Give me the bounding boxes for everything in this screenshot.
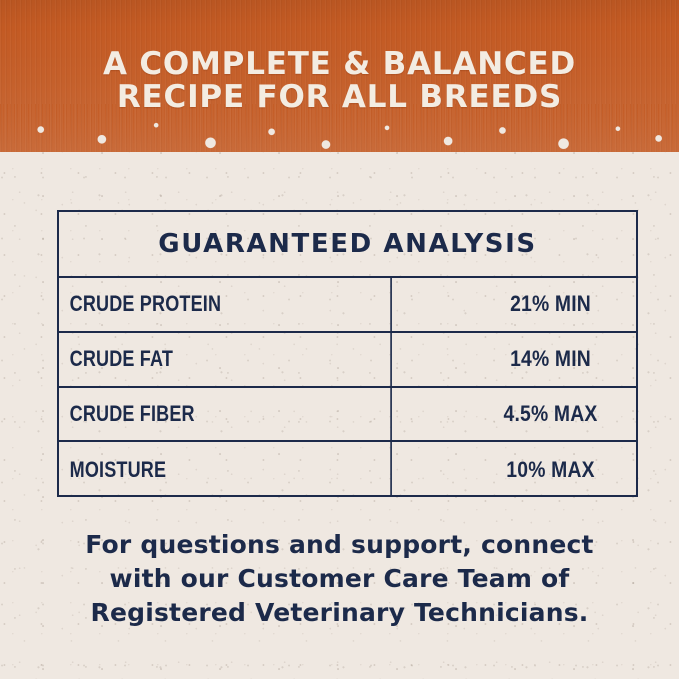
product-info-panel: A COMPLETE & BALANCED RECIPE FOR ALL BRE… <box>0 0 679 679</box>
nutrient-value: 10% MAX <box>475 442 625 497</box>
banner-headline-line-2: RECIPE FOR ALL BREEDS <box>0 81 679 114</box>
nutrient-label: CRUDE PROTEIN <box>59 278 392 331</box>
table-title: GUARANTEED ANALYSIS <box>158 229 536 259</box>
table-row: CRUDE FIBER 4.5% MAX <box>59 388 636 443</box>
customer-care-note-line-2: with our Customer Care Team of <box>0 562 679 596</box>
nutrient-label: CRUDE FIBER <box>59 388 392 441</box>
guaranteed-analysis-table: GUARANTEED ANALYSIS CRUDE PROTEIN 21% MI… <box>57 210 638 497</box>
customer-care-note: For questions and support, connect with … <box>0 528 679 630</box>
nutrient-label: CRUDE FAT <box>59 333 392 386</box>
table-header-row: GUARANTEED ANALYSIS <box>59 212 636 278</box>
nutrient-label: MOISTURE <box>59 442 392 497</box>
table-row: CRUDE PROTEIN 21% MIN <box>59 278 636 333</box>
customer-care-note-line-1: For questions and support, connect <box>0 528 679 562</box>
nutrient-value: 21% MIN <box>475 278 625 331</box>
table-row: CRUDE FAT 14% MIN <box>59 333 636 388</box>
nutrient-value: 14% MIN <box>475 333 625 386</box>
banner-headline: A COMPLETE & BALANCED RECIPE FOR ALL BRE… <box>0 48 679 114</box>
banner-headline-line-1: A COMPLETE & BALANCED <box>0 48 679 81</box>
customer-care-note-line-3: Registered Veterinary Technicians. <box>0 596 679 630</box>
nutrient-value: 4.5% MAX <box>475 388 625 441</box>
table-row: MOISTURE 10% MAX <box>59 442 636 497</box>
